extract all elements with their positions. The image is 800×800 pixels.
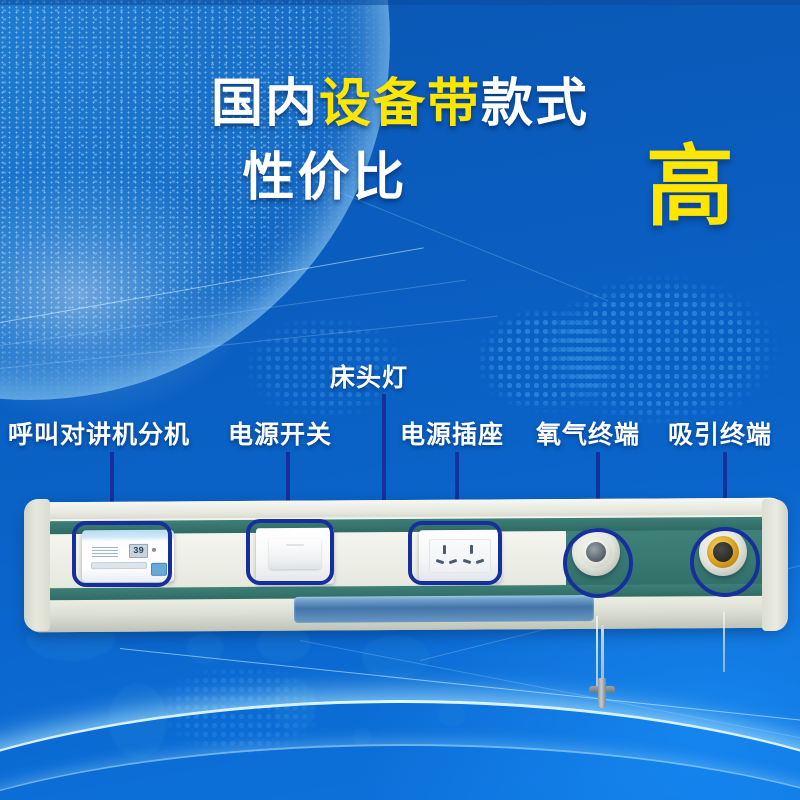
top-edge-strip	[0, 0, 800, 5]
highlight-ring-suction-outlet	[690, 527, 760, 597]
callout-label-oxygen-outlet: 氧气终端	[536, 415, 640, 451]
headline-emphasis-gao: 高	[646, 143, 734, 231]
callout-label-call-intercom: 呼叫对讲机分机	[8, 415, 190, 451]
highlight-ring-oxygen-outlet	[563, 528, 633, 598]
headline-text-plain-1: 国内	[211, 75, 319, 133]
callout-label-power-switch: 电源开关	[228, 415, 332, 451]
pull-cord-metal-tip	[589, 678, 615, 712]
headline-text-plain-2: 款式	[481, 75, 589, 133]
hanging-cord-line-secondary	[723, 612, 725, 672]
headline-text-highlight: 设备带	[319, 75, 481, 133]
highlight-box-call-intercom	[72, 521, 172, 587]
headline-line-1: 国内设备带款式	[0, 78, 800, 130]
translucent-blue-rail	[294, 595, 594, 623]
pull-cord[interactable]	[601, 625, 604, 683]
callout-label-suction-outlet: 吸引终端	[668, 415, 772, 451]
callout-label-bed-lamp: 床头灯	[330, 358, 408, 394]
banner-canvas: 国内设备带款式 性价比 高 呼叫对讲机分机 电源开关 床头灯 电源插座 氧气终端…	[0, 0, 800, 800]
highlight-box-power-socket	[408, 521, 502, 585]
panel-end-cap-right	[762, 499, 788, 631]
callout-label-power-socket: 电源插座	[400, 415, 504, 451]
highlight-box-power-switch	[246, 519, 334, 585]
lens-flare-glow	[0, 170, 250, 420]
cord-tip-stem	[598, 678, 606, 708]
panel-end-cap-left	[24, 499, 50, 631]
